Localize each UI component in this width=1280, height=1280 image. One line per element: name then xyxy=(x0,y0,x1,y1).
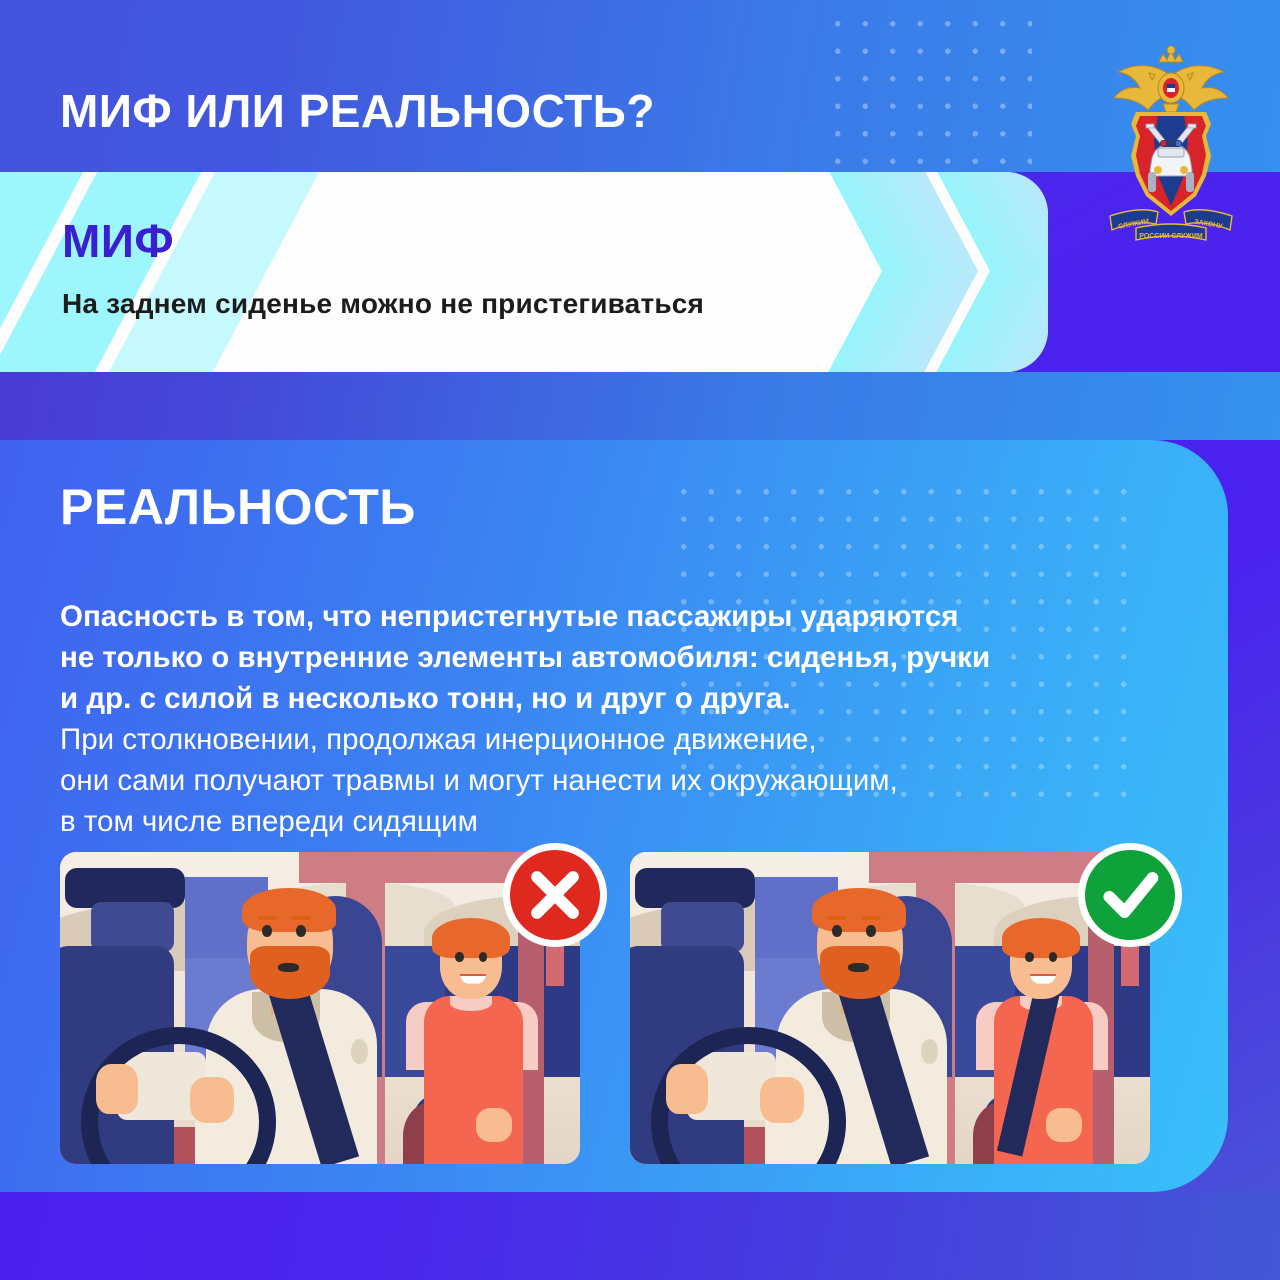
footer-band xyxy=(0,1192,1280,1280)
illustration-unbelted-rear-passenger xyxy=(60,852,580,1164)
svg-text:РОССИИ СЛУЖИМ: РОССИИ СЛУЖИМ xyxy=(1139,233,1203,240)
page-title: МИФ ИЛИ РЕАЛЬНОСТЬ? xyxy=(60,84,655,138)
gibdd-emblem: СЛУЖИМ ЗАКОНУ РОССИИ СЛУЖИМ xyxy=(1096,36,1246,246)
myth-statement: На заднем сиденье можно не пристегиватьс… xyxy=(62,288,704,320)
reality-line: Опасность в том, что непристегнутые пасс… xyxy=(60,596,1120,637)
myth-label: МИФ xyxy=(62,214,174,268)
dot-pattern-header xyxy=(822,8,1032,170)
check-icon xyxy=(1078,843,1182,947)
reality-card: РЕАЛЬНОСТЬ Опасность в том, что непристе… xyxy=(0,440,1228,1192)
cross-icon xyxy=(503,843,607,947)
chevron-decoration-right-2 xyxy=(990,172,1048,372)
reality-line: и др. с силой в несколько тонн, но и дру… xyxy=(60,678,1120,719)
reality-line: они сами получают травмы и могут нанести… xyxy=(60,760,1120,801)
divider-band xyxy=(0,372,1280,440)
reality-line: При столкновении, продолжая инерционное … xyxy=(60,719,1120,760)
illustration-belted-rear-passenger xyxy=(630,852,1150,1164)
reality-body-text: Опасность в том, что непристегнутые пасс… xyxy=(60,596,1120,842)
myth-card: МИФ На заднем сиденье можно не пристегив… xyxy=(0,172,1048,372)
infographic-poster: МИФ ИЛИ РЕАЛЬНОСТЬ? xyxy=(0,0,1280,1280)
reality-label: РЕАЛЬНОСТЬ xyxy=(60,478,416,536)
reality-line: не только о внутренние элементы автомоби… xyxy=(60,637,1120,678)
reality-line: в том числе впереди сидящим xyxy=(60,801,1120,842)
